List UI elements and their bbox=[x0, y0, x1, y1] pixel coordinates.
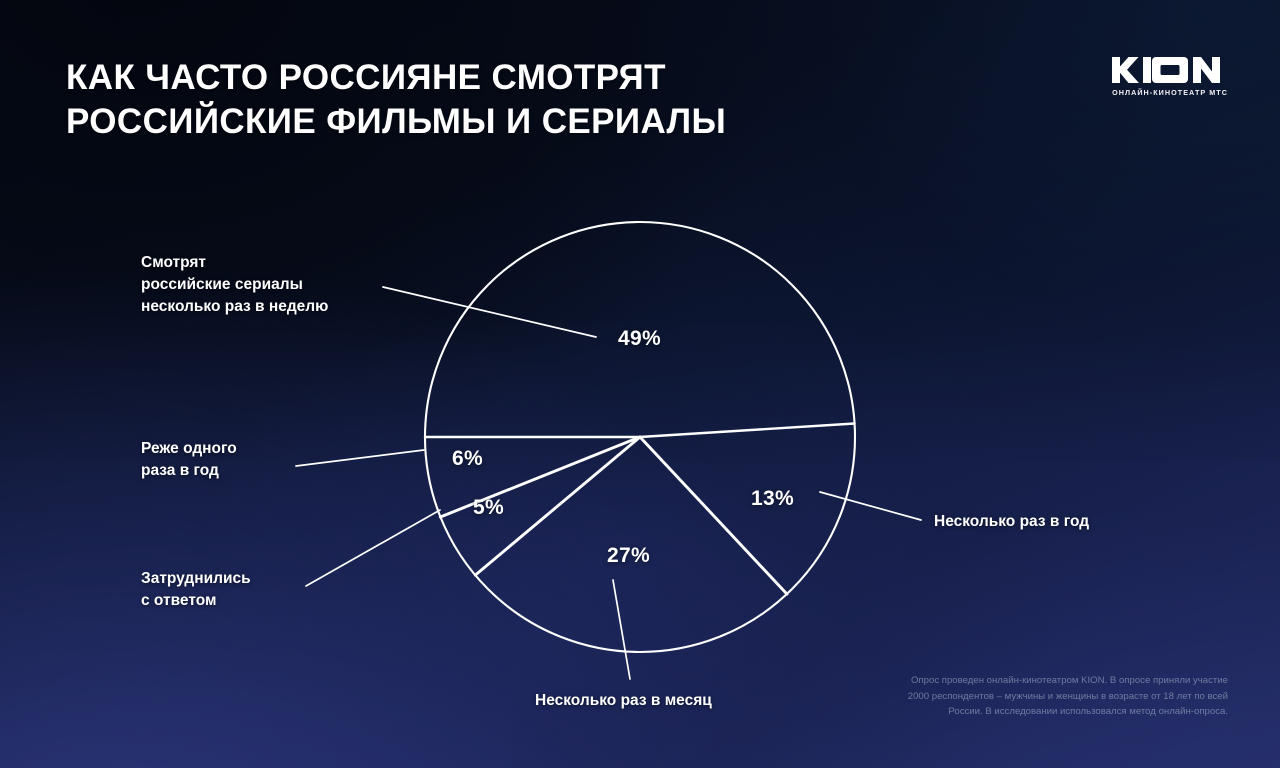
infographic: КАК ЧАСТО РОССИЯНЕ СМОТРЯТ РОССИЙСКИЕ ФИ… bbox=[0, 0, 1280, 768]
survey-footnote: Опрос проведен онлайн-кинотеатром KION. … bbox=[898, 673, 1228, 720]
pie-value-hard-to-answer: 5% bbox=[473, 496, 504, 520]
pie-divider-13-49 bbox=[640, 424, 855, 438]
pie-divider-27-13 bbox=[640, 437, 787, 594]
kion-logo: ОНЛАЙН-КИНОТЕАТР МТС bbox=[1112, 57, 1228, 97]
pie-value-several-per-month: 27% bbox=[607, 544, 650, 568]
pie-label-hard-to-answer: Затруднились с ответом bbox=[141, 568, 251, 612]
pie-outline bbox=[425, 222, 855, 652]
kion-wordmark-icon bbox=[1112, 57, 1228, 83]
pie-value-several-per-year: 13% bbox=[751, 487, 794, 511]
leader-line-several-per-year bbox=[820, 492, 921, 520]
pie-label-several-per-year: Несколько раз в год bbox=[934, 511, 1089, 533]
page-title: КАК ЧАСТО РОССИЯНЕ СМОТРЯТ РОССИЙСКИЕ ФИ… bbox=[66, 56, 726, 144]
leader-line-less-than-yearly bbox=[296, 450, 424, 466]
pie-label-several-per-month: Несколько раз в месяц bbox=[535, 690, 712, 712]
leader-line-hard-to-answer bbox=[306, 510, 440, 586]
leader-line-several-per-month bbox=[613, 580, 630, 679]
pie-value-less-than-yearly: 6% bbox=[452, 447, 483, 471]
kion-logo-tagline: ОНЛАЙН-КИНОТЕАТР МТС bbox=[1112, 88, 1228, 97]
pie-label-weekly: Смотрят российские сериалы несколько раз… bbox=[141, 252, 328, 318]
leader-line-weekly bbox=[383, 287, 596, 337]
pie-value-weekly: 49% bbox=[618, 327, 661, 351]
pie-label-less-than-yearly: Реже одного раза в год bbox=[141, 438, 237, 482]
